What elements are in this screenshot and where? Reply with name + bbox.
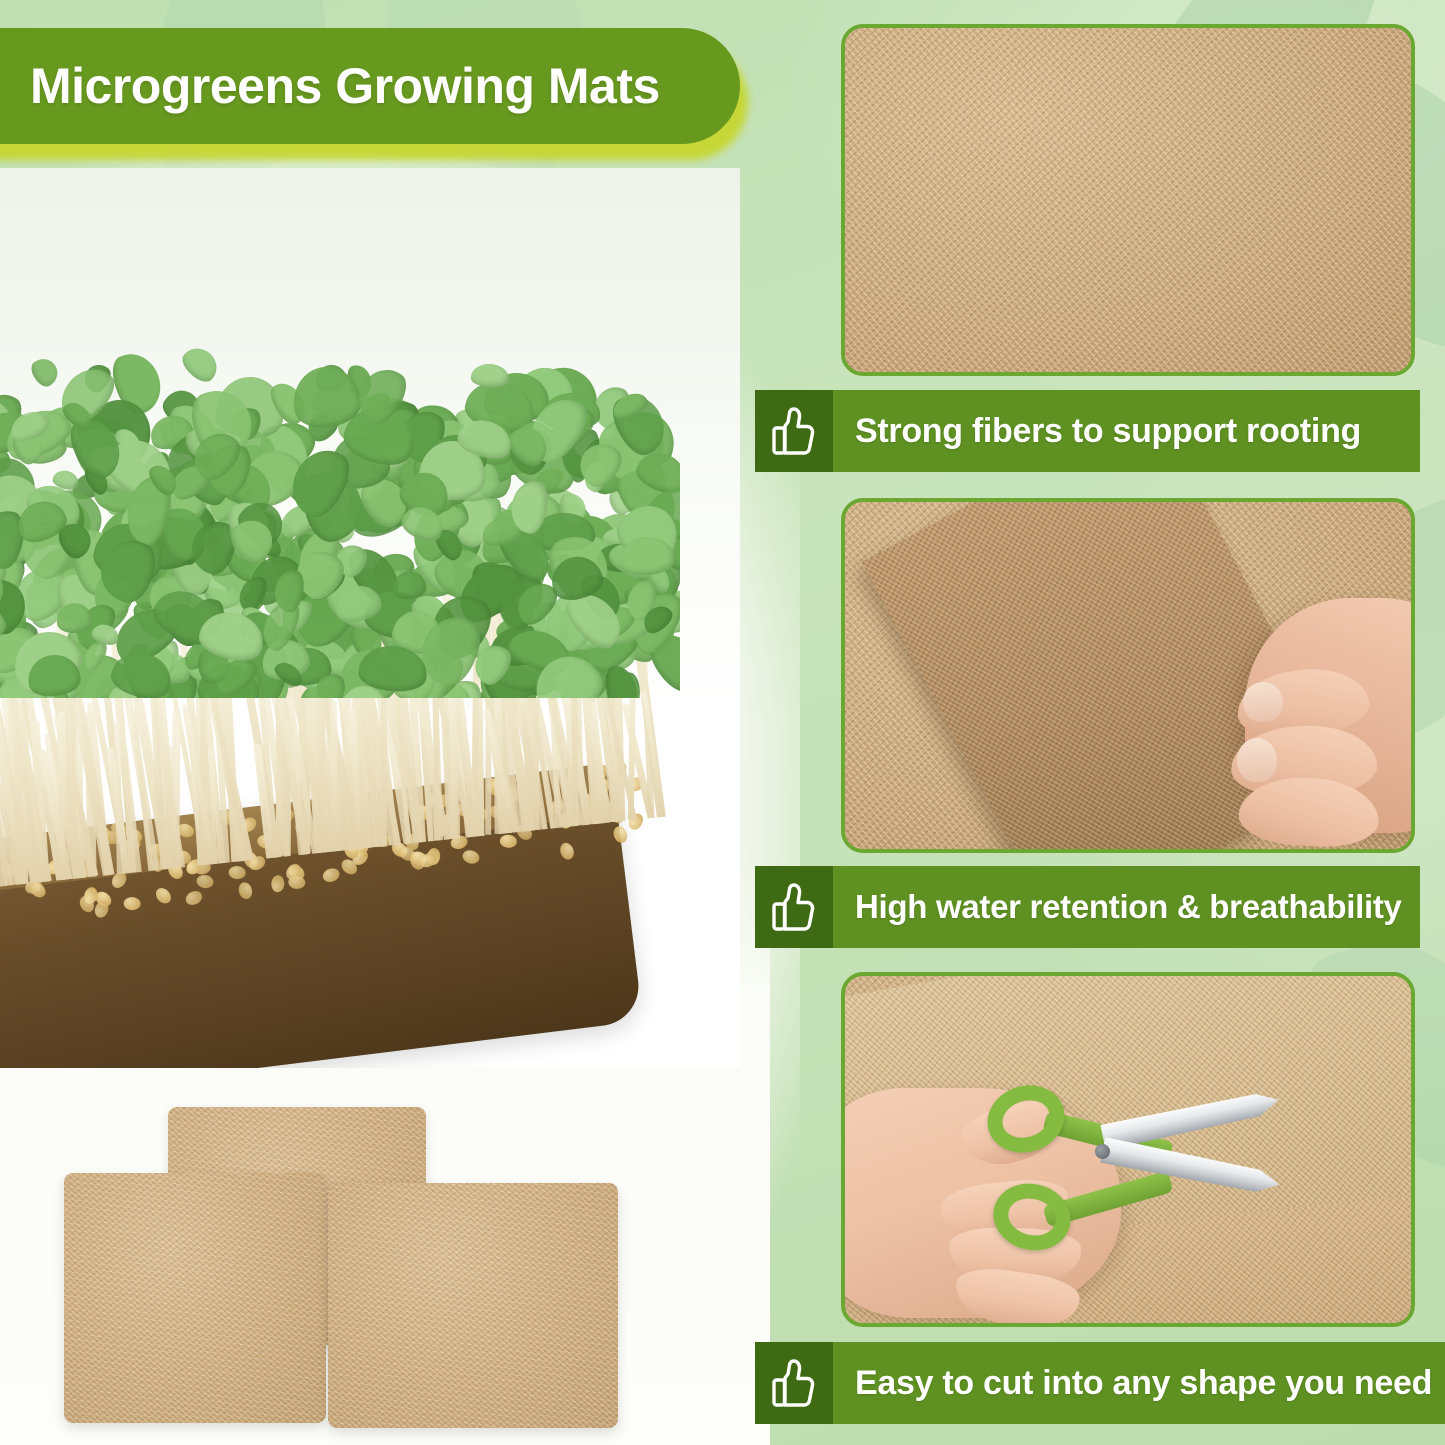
thumbs-up-icon [755, 866, 833, 948]
seed [229, 865, 247, 879]
thumbs-up-glyph [769, 1356, 819, 1410]
stem [171, 710, 180, 868]
seed [612, 824, 630, 844]
seed [270, 875, 284, 893]
page-title: Microgreens Growing Mats [0, 57, 660, 115]
seed [123, 897, 140, 911]
sprout-leaf [177, 341, 224, 387]
feature-bar-cut: Easy to cut into any shape you need [755, 1342, 1420, 1424]
feature-label-container: High water retention & breathability [833, 866, 1420, 948]
feature-label: Strong fibers to support rooting [855, 412, 1361, 451]
seed [461, 848, 481, 865]
seed [321, 866, 341, 884]
feature-photo-water-retention [841, 498, 1415, 853]
stem [628, 688, 636, 820]
seed [153, 885, 174, 906]
coir-mat-tile [328, 1183, 618, 1428]
sprout-leaf [27, 354, 63, 391]
feature-photo-fibers [841, 24, 1415, 376]
coir-texture [845, 28, 1411, 372]
feature-bar-water: High water retention & breathability [755, 866, 1420, 948]
stem [330, 700, 338, 851]
feature-label: High water retention & breathability [855, 888, 1402, 926]
feature-photo-cut-to-shape [841, 972, 1415, 1327]
scissors-pivot [1095, 1144, 1110, 1159]
thumbs-up-glyph [769, 404, 819, 458]
feature-label-container: Easy to cut into any shape you need [833, 1342, 1445, 1424]
feature-label: Easy to cut into any shape you need [855, 1364, 1432, 1403]
seed [183, 888, 204, 907]
thumbs-up-glyph [769, 880, 819, 934]
sprout-leaf [0, 346, 1, 398]
thumbs-up-icon [755, 1342, 833, 1424]
feature-label-container: Strong fibers to support rooting [833, 390, 1420, 472]
feature-bar-fibers: Strong fibers to support rooting [755, 390, 1420, 472]
seed [195, 873, 214, 889]
title-banner: Microgreens Growing Mats [0, 28, 740, 144]
sprout-leaf [471, 363, 510, 388]
seed [500, 834, 518, 849]
sprout-leaf-canopy [0, 228, 680, 698]
mat-stack-photo [60, 1095, 670, 1445]
product-infographic: Microgreens Growing Mats [0, 0, 1445, 1445]
thumbs-up-icon [755, 390, 833, 472]
coir-mat-tile [64, 1173, 326, 1423]
seed [237, 881, 254, 901]
sprout-leaf [57, 603, 93, 633]
fingernail [1236, 737, 1278, 782]
hero-microgreens-photo [0, 168, 740, 1068]
seed [558, 841, 576, 861]
